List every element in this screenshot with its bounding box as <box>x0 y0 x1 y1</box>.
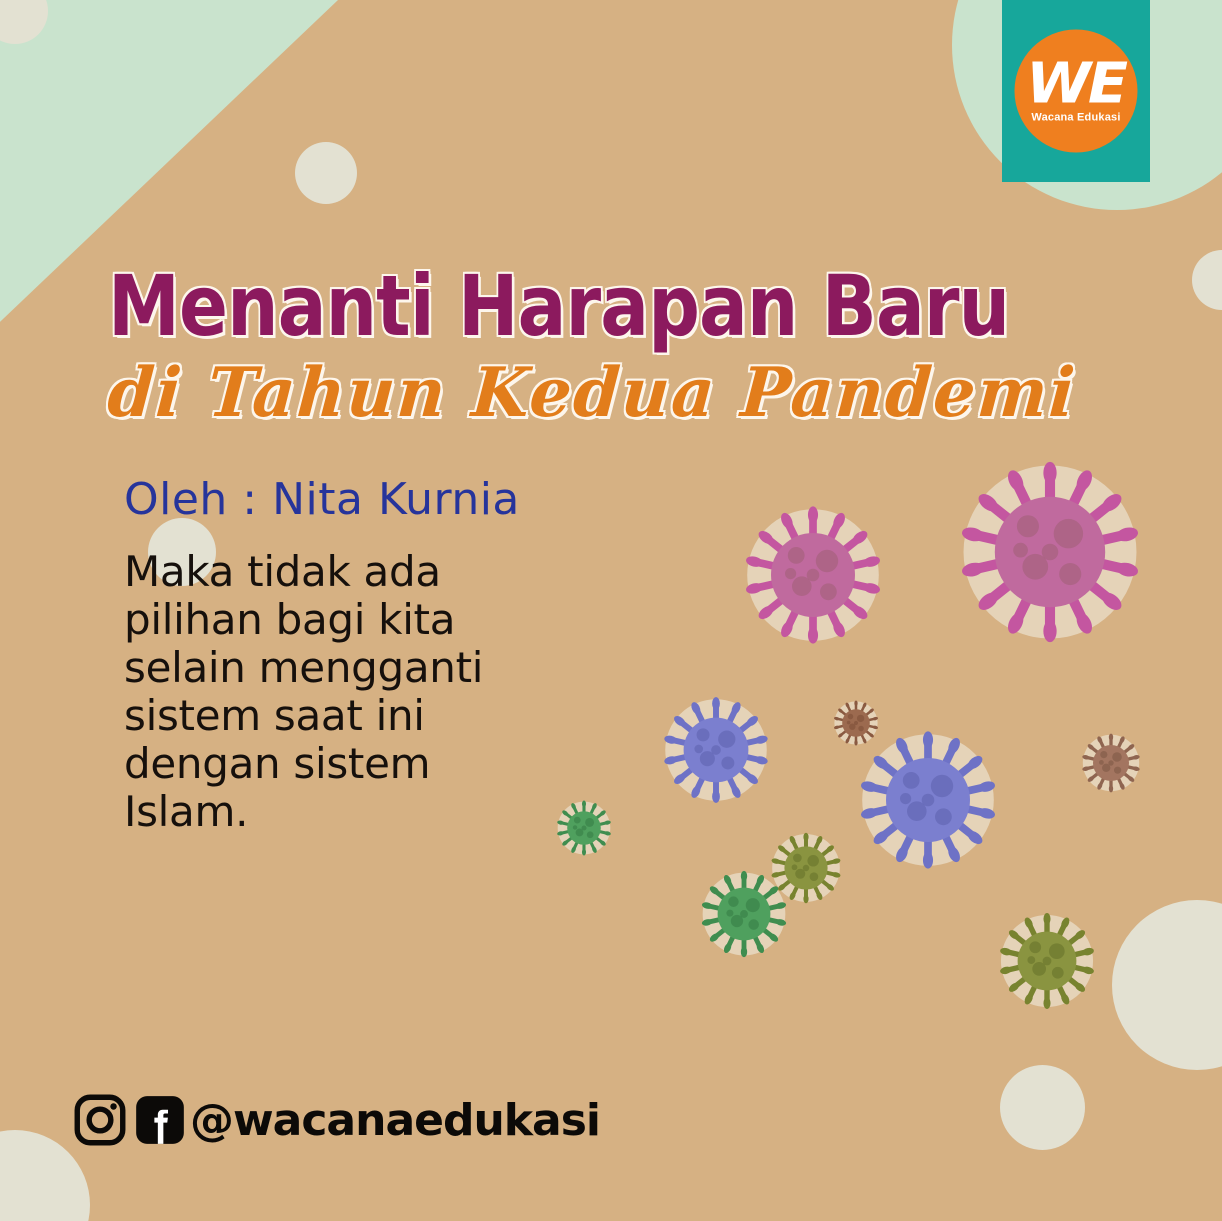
virus-green-tiny <box>556 800 612 856</box>
quote-line: Maka tidak ada <box>124 548 544 596</box>
virus-brown-tiny <box>833 700 879 746</box>
virus-pink-small <box>743 505 883 645</box>
facebook-icon[interactable] <box>126 1094 186 1146</box>
virus-blue-large <box>858 730 998 870</box>
decor-circle-right-edge <box>1192 250 1222 310</box>
social-handle[interactable]: @wacanaedukasi <box>190 1095 600 1146</box>
decor-circle-bottom-right <box>1000 1065 1085 1150</box>
page-title: Menanti Harapan Baru <box>108 262 934 350</box>
virus-olive-bottom <box>998 912 1096 1010</box>
instagram-icon[interactable] <box>74 1094 126 1146</box>
author-byline: Oleh : Nita Kurnia <box>124 474 520 526</box>
decor-circle-upper <box>295 142 357 204</box>
logo-monogram: WE <box>1027 59 1126 109</box>
decor-circle-right-large <box>1112 900 1222 1070</box>
quote-line: pilihan bagi kita <box>124 596 544 644</box>
poster-canvas: WE Wacana Edukasi Menanti Harapan Baru d… <box>0 0 1222 1221</box>
page-subtitle: di Tahun Kedua Pandemi <box>105 354 1041 432</box>
quote-line: dengan sistem <box>124 740 544 788</box>
quote-line: sistem saat ini <box>124 692 544 740</box>
logo-circle: WE Wacana Edukasi <box>1015 30 1138 153</box>
virus-green-medium <box>700 870 788 958</box>
virus-brown-small <box>1081 733 1141 793</box>
brand-logo: WE Wacana Edukasi <box>1002 0 1150 182</box>
social-footer: @wacanaedukasi <box>74 1094 600 1146</box>
quote-line: selain mengganti <box>124 644 544 692</box>
virus-blue-medium <box>662 696 770 804</box>
quote-text: Maka tidak adapilihan bagi kitaselain me… <box>124 548 544 836</box>
virus-pink-large <box>958 460 1142 644</box>
quote-line: Islam. <box>124 788 544 836</box>
headline-block: Menanti Harapan Baru di Tahun Kedua Pand… <box>108 262 1068 432</box>
